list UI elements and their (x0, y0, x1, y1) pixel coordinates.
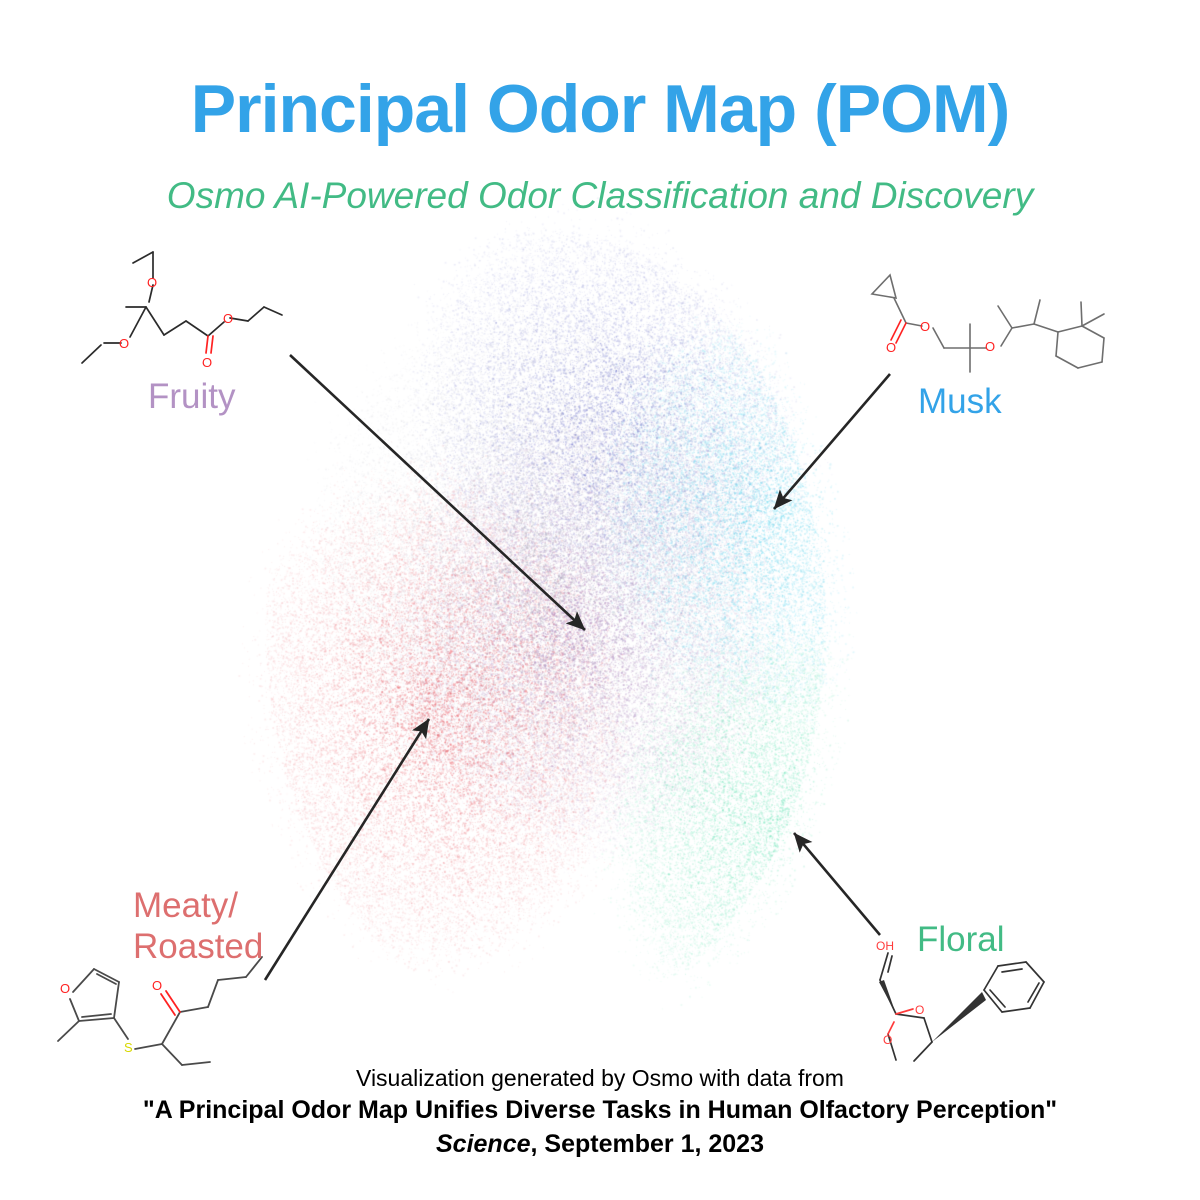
odor-label-fruity: Fruity (148, 376, 236, 417)
atom-label-o: O (985, 339, 995, 354)
principal-odor-map-poster: Principal Odor Map (POM) Osmo AI-Powered… (0, 0, 1200, 1200)
atom-label-o: O (915, 1003, 924, 1017)
odor-label-floral: Floral (917, 919, 1005, 960)
cyclopropanecarboxylate-musk-structure: O O O (852, 258, 1140, 374)
atom-label-o: O (883, 1033, 892, 1047)
caption-line-paper-title: "A Principal Odor Map Unifies Diverse Ta… (0, 1093, 1200, 1127)
ethyl-4,4-diethoxypentanoate-structure: O O O O (68, 245, 300, 380)
atom-label-oh: OH (876, 939, 894, 953)
atom-label-o: O (920, 319, 930, 334)
page-title: Principal Odor Map (POM) (0, 70, 1200, 148)
caption-line-attribution: Visualization generated by Osmo with dat… (0, 1063, 1200, 1093)
atom-label-o: O (147, 275, 157, 290)
atom-label-o: O (223, 311, 233, 326)
atom-label-o: O (152, 978, 162, 993)
odor-label-musk: Musk (918, 381, 1002, 422)
atom-label-o: O (886, 340, 896, 355)
journal-date: , September 1, 2023 (531, 1130, 764, 1158)
odor-label-meaty-roasted: Meaty/ Roasted (133, 885, 263, 967)
atom-label-o: O (119, 336, 129, 351)
atom-label-o: O (60, 981, 70, 996)
atom-label-s: S (124, 1040, 133, 1055)
journal-name: Science (436, 1130, 531, 1158)
page-subtitle: Osmo AI-Powered Odor Classification and … (0, 175, 1200, 217)
atom-label-o: O (202, 355, 212, 370)
source-caption: Visualization generated by Osmo with dat… (0, 1063, 1200, 1161)
caption-line-journal: Science, September 1, 2023 (0, 1127, 1200, 1161)
